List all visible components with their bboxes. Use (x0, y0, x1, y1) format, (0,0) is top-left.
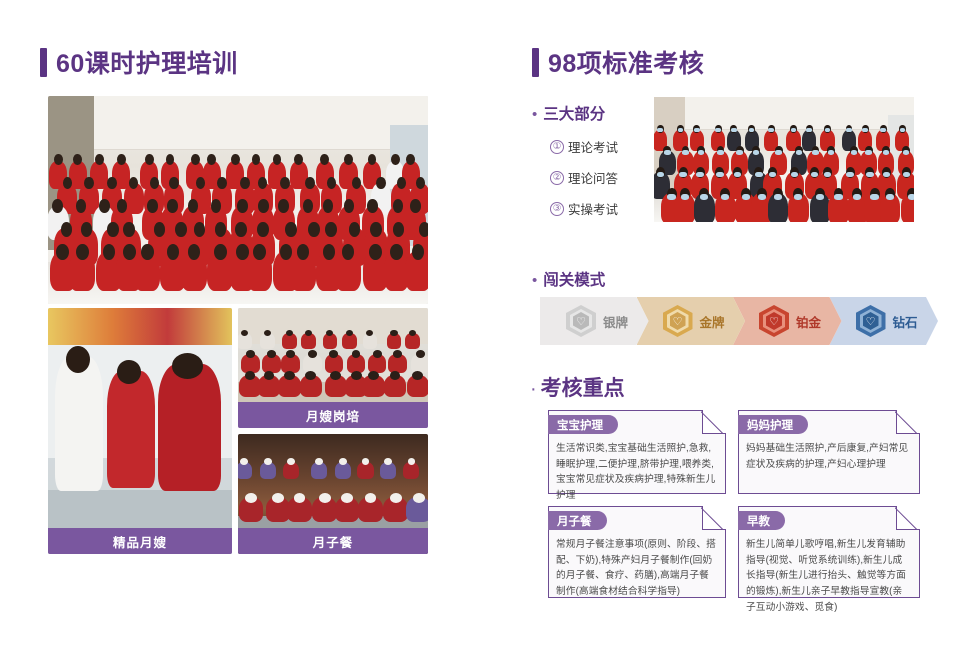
fold-line-icon (895, 411, 919, 435)
level-mode-title: 闯关模式 (543, 268, 605, 290)
badge-label: 金牌 (700, 312, 725, 331)
accent-bar-icon (40, 48, 47, 77)
heart-glyph-icon: ♡ (663, 305, 693, 337)
hero-photo-group-training (48, 96, 428, 304)
circled-number-icon: ③ (550, 202, 564, 216)
card-body-text: 生活常识类,宝宝基础生活照护,急救,睡眠护理,二便护理,脐带护理,喂养类,宝宝常… (556, 441, 717, 504)
tile-jingpin-yuesao: 精品月嫂 (48, 308, 232, 554)
badge-label: 银牌 (603, 312, 628, 331)
accent-bar-icon (532, 48, 539, 77)
level-badge-1[interactable]: ♡金牌 (637, 297, 746, 345)
level-badge-0[interactable]: ♡银牌 (540, 297, 649, 345)
key-points-title: 考核重点 (541, 372, 625, 402)
dot-bullet-icon: • (532, 107, 537, 122)
medal-hex-icon: ♡ (663, 305, 693, 337)
card-body-text: 常规月子餐注意事项(原则、阶段、搭配、下奶),特殊产妇月子餐制作(回奶的月子餐、… (556, 537, 717, 600)
dot-bullet-icon: · (530, 379, 537, 399)
tile-yuezican: 月子餐 (238, 434, 428, 554)
card-title-pill: 月子餐 (548, 511, 607, 530)
key-point-card-baby: 宝宝护理 生活常识类,宝宝基础生活照护,急救,睡眠护理,二便护理,脐带护理,喂养… (548, 410, 726, 494)
hero-photo-image (48, 96, 428, 304)
card-title-pill: 宝宝护理 (548, 415, 618, 434)
circled-number-icon: ① (550, 140, 564, 154)
sec-head-training: 60课时护理培训 (40, 44, 436, 80)
circled-number-icon: ② (550, 171, 564, 185)
key-point-card-mother: 妈妈护理 妈妈基础生活照护,产后康复,产妇常见症状及疾病的护理,产妇心理护理 (738, 410, 920, 494)
badge-label: 钻石 (893, 312, 918, 331)
key-point-card-education: 早教 新生儿简单儿歌哼唱,新生儿发育辅助指导(视觉、听觉系统训练),新生儿成长指… (738, 506, 920, 598)
right-section-title: 98项标准考核 (548, 44, 704, 80)
fold-line-icon (701, 507, 725, 531)
fold-line-icon (701, 411, 725, 435)
dot-bullet-icon: • (532, 273, 537, 288)
tile-caption: 月子餐 (238, 528, 428, 554)
card-title-pill: 妈妈护理 (738, 415, 808, 434)
heart-glyph-icon: ♡ (759, 305, 789, 337)
key-point-card-meal: 月子餐 常规月子餐注意事项(原则、阶段、搭配、下奶),特殊产妇月子餐制作(回奶的… (548, 506, 726, 598)
poster-page: 60课时护理培训 精品月嫂 月嫂岗培 月子餐 98项标准考核 (0, 0, 966, 655)
heart-glyph-icon: ♡ (566, 305, 596, 337)
medal-hex-icon: ♡ (856, 305, 886, 337)
card-body-text: 妈妈基础生活照护,产后康复,产妇常见症状及疾病的护理,产妇心理护理 (746, 441, 911, 472)
medal-hex-icon: ♡ (759, 305, 789, 337)
level-badge-3[interactable]: ♡钻石 (830, 297, 939, 345)
three-parts-title: 三大部分 (543, 102, 605, 124)
left-section-title: 60课时护理培训 (56, 44, 238, 80)
list-item-label: 理论问答 (568, 168, 618, 187)
tile-caption: 月嫂岗培 (238, 402, 428, 428)
assessment-photo-image (654, 97, 914, 222)
medal-hex-icon: ♡ (566, 305, 596, 337)
fold-line-icon (895, 507, 919, 531)
sec-head-assessment: 98项标准考核 (532, 44, 928, 80)
level-mode-badge-strip: ♡银牌♡金牌♡铂金♡钻石 (540, 297, 926, 345)
card-title-pill: 早教 (738, 511, 785, 530)
level-mode-heading: • 闯关模式 (532, 268, 605, 290)
tile-yuesao-gangpei: 月嫂岗培 (238, 308, 428, 428)
card-body-text: 新生儿简单儿歌哼唱,新生儿发育辅助指导(视觉、听觉系统训练),新生儿成长指导(新… (746, 537, 911, 616)
tile-photo-massage (48, 308, 232, 554)
left-section-heading: 60课时护理培训 (40, 44, 436, 80)
assessment-group-photo (654, 97, 914, 222)
badge-label: 铂金 (796, 312, 821, 331)
list-item-label: 实操考试 (568, 199, 618, 218)
heart-glyph-icon: ♡ (856, 305, 886, 337)
list-item-label: 理论考试 (568, 137, 618, 156)
key-points-heading: · 考核重点 (530, 372, 625, 402)
level-badge-2[interactable]: ♡铂金 (733, 297, 842, 345)
tile-caption: 精品月嫂 (48, 528, 232, 554)
